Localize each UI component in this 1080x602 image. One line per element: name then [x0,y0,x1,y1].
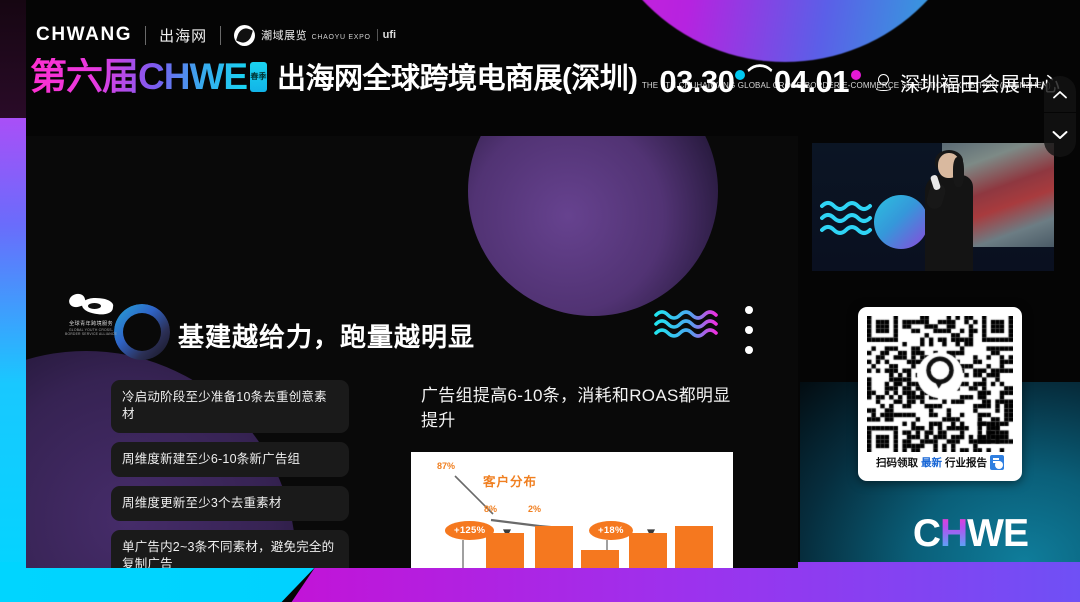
left-gradient-strip [0,118,26,602]
chwe-footer-logo: CHWE [913,512,1028,556]
ufi-mark: ufi [383,29,396,42]
season-badge: 春季 [250,62,267,92]
chuhaiwang-label: 出海网 [159,25,207,46]
location-pin-icon [875,74,892,91]
ring-decoration [114,304,170,360]
chart-title: 客户分布 [483,471,537,490]
corp-logo-cn: 全球青年跨境服务 [62,320,120,327]
live-session-video[interactable] [812,143,1054,271]
logo-letter-c: C [913,512,940,555]
list-item: 冷启动阶段至少准备10条去重创意素材 [111,380,349,433]
slide-title: 基建越给力，跑量越明显 [178,317,475,354]
slide-body-text: 广告组提高6-10条，消耗和ROAS都明显提升 [421,384,741,433]
document-icon [990,455,1004,470]
chart-canvas: 客户分布 87% 8% 2% +125% +18% 1-5条6-10条11-15… [411,452,733,568]
event-title-cn: 出海网全球跨境电商展(深圳) [277,63,637,95]
slide-blob-purple-right [468,136,718,316]
qr-caption-prefix: 扫码领取 [876,455,918,470]
chevron-down-icon [1052,130,1068,140]
video-navigation[interactable] [1044,76,1076,157]
expo-text: 潮域展览 CHAOYU EXPO [261,27,371,44]
customer-distribution-chart: 客户分布 87% 8% 2% +125% +18% 1-5条6-10条11-15… [411,452,733,568]
presentation-slide[interactable]: 全球青年跨境服务 GLOBAL YOUTH CROSS-BORDER SERVI… [26,136,798,568]
chart-annotation: 2% [528,504,541,514]
expo-name-en: CHAOYU EXPO [312,34,371,41]
qr-code-icon[interactable] [867,316,1013,452]
list-item: 单广告内2~3条不同素材，避免完全的复制广告 [111,530,349,568]
dot-icon [745,306,753,314]
logo-letter-h: H [940,512,967,555]
divider [145,26,146,45]
qr-code-card[interactable]: 扫码领取 最新 行业报告 [858,307,1022,481]
chart-growth-badge: +18% [589,521,633,540]
qr-caption: 扫码领取 最新 行业报告 [867,455,1013,470]
dot-icon [745,346,753,354]
dot-icon [745,326,753,334]
brand-row: CHWANG 出海网 潮域展览 CHAOYU EXPO ufi [36,24,396,46]
scroll-down-button[interactable] [1044,113,1076,157]
divider [220,26,221,45]
ufi-badge: ufi [377,29,396,42]
chevron-up-icon [1053,90,1067,99]
chaoyu-expo-logo: 潮域展览 CHAOYU EXPO ufi [234,25,396,46]
swirl-icon [234,25,255,46]
venue-name: 深圳福田会展中心 [900,68,1060,97]
eagle-mark-icon [69,292,113,318]
wave-lines-icon [654,308,726,340]
chart-bar [675,526,713,568]
corp-logo-en: GLOBAL YOUTH CROSS-BORDER SERVICE ALLIAN… [62,328,120,336]
scroll-up-button[interactable] [1044,76,1076,112]
date-separator: ⌒ [747,58,772,94]
corporate-logo: 全球青年跨境服务 GLOBAL YOUTH CROSS-BORDER SERVI… [62,292,120,336]
event-edition: 第六届CHWE [30,58,247,95]
date-end: 04.01 [774,64,849,100]
qr-caption-suffix: 行业报告 [945,455,987,470]
date-and-venue: 03.30 ⌒ 04.01 深圳福田会展中心 [659,64,1060,100]
speaker-figure [920,153,976,271]
bullet-list: 冷启动阶段至少准备10条去重创意素材 周维度新建至少6-10条新广告组 周维度更… [111,380,349,568]
bottom-gradient-band-left [0,562,320,602]
date-start: 03.30 [659,64,734,100]
venue-block: 深圳福田会展中心 [875,68,1060,97]
magenta-dot-icon [851,70,861,80]
event-dates: 03.30 ⌒ 04.01 [659,64,861,100]
chart-bar [486,533,524,568]
list-item: 周维度新建至少6-10条新广告组 [111,442,349,477]
logo-letter-e: E [1003,512,1028,555]
chart-annotation: 8% [484,504,497,514]
chart-annotation: 87% [437,461,455,471]
event-header: CHWANG 出海网 潮域展览 CHAOYU EXPO ufi 第六届CHWE … [0,0,1080,120]
cyan-dot-icon [735,70,745,80]
list-item: 周维度更新至少3个去重素材 [111,486,349,521]
chwang-wordmark: CHWANG [36,24,132,46]
dot-column-decoration [745,306,753,354]
logo-letter-w: W [967,512,1003,555]
chart-bar [581,550,619,568]
chart-bar [535,526,573,568]
qr-caption-highlight: 最新 [921,455,942,470]
expo-name-cn: 潮域展览 [261,30,307,42]
chart-bar [629,533,667,568]
